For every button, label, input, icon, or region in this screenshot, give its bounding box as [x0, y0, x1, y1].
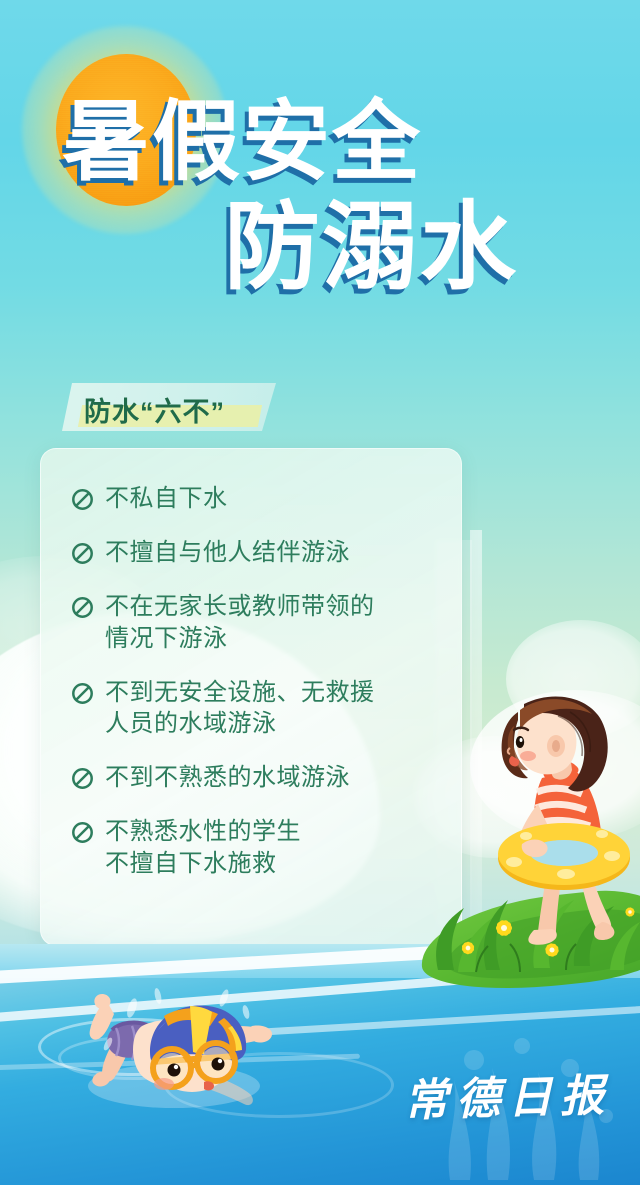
section-tab-label: 防水“六不”	[84, 390, 225, 429]
title-line-2: 防溺水	[0, 200, 640, 296]
rule-text: 不私自下水	[105, 483, 228, 514]
rule-item: 不擅自与他人结伴游泳	[71, 537, 439, 568]
rule-item: 不到不熟悉的水域游泳	[71, 762, 439, 793]
publisher-signature: 常德日报	[403, 1059, 613, 1128]
rule-item: 不在无家长或教师带领的 情况下游泳	[71, 591, 439, 653]
poster-title: 暑假安全 防溺水	[0, 98, 640, 296]
prohibition-icon	[71, 682, 94, 705]
poster-root: 暑假安全 防溺水 防水“六不” 不私自下水不擅自与他人结伴游泳不在无家长或教师带…	[0, 0, 640, 1185]
rule-text: 不擅自与他人结伴游泳	[105, 537, 350, 568]
rules-card: 不私自下水不擅自与他人结伴游泳不在无家长或教师带领的 情况下游泳不到无安全设施、…	[40, 448, 462, 946]
rule-item: 不熟悉水性的学生 不擅自下水施救	[71, 816, 439, 878]
rule-text: 不熟悉水性的学生 不擅自下水施救	[105, 816, 301, 878]
prohibition-icon	[71, 767, 94, 790]
rule-text: 不在无家长或教师带领的 情况下游泳	[105, 591, 375, 653]
prohibition-icon	[71, 542, 94, 565]
rules-list: 不私自下水不擅自与他人结伴游泳不在无家长或教师带领的 情况下游泳不到无安全设施、…	[71, 483, 439, 879]
rule-item: 不到无安全设施、无救援 人员的水域游泳	[71, 677, 439, 739]
prohibition-icon	[71, 821, 94, 844]
title-line-1: 暑假安全	[0, 98, 640, 186]
rule-item: 不私自下水	[71, 483, 439, 514]
prohibition-icon	[71, 488, 94, 511]
swimming-boy-illustration	[46, 982, 282, 1114]
girl-with-swim-ring-illustration	[470, 686, 640, 954]
rule-text: 不到不熟悉的水域游泳	[105, 762, 350, 793]
prohibition-icon	[71, 596, 94, 619]
rule-text: 不到无安全设施、无救援 人员的水域游泳	[105, 677, 375, 739]
